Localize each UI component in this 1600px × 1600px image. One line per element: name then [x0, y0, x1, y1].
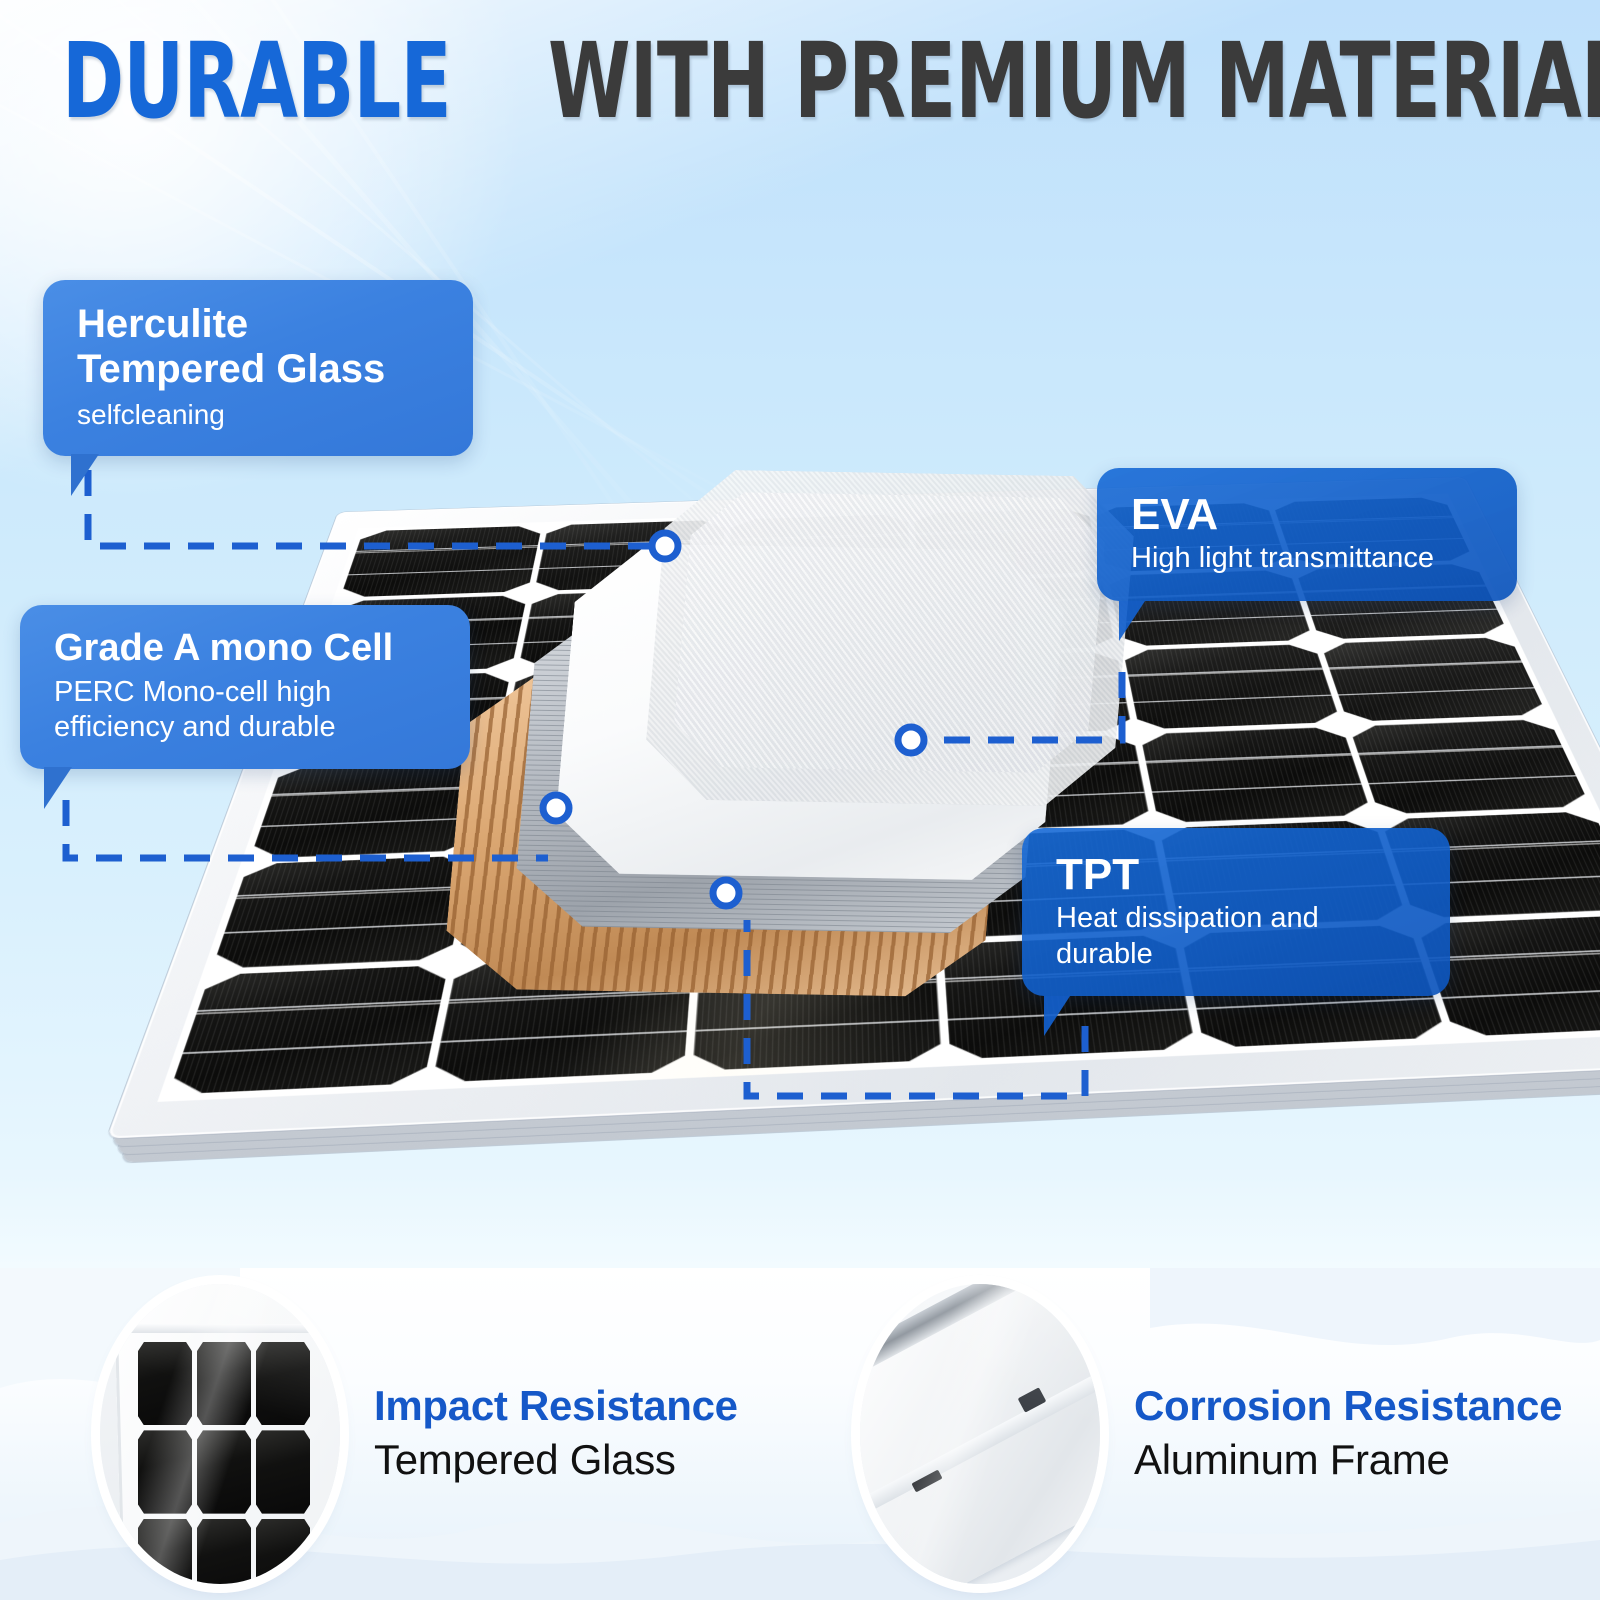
features-section: Impact Resistance Tempered Glass Corrosi… — [0, 1268, 1600, 1600]
cell-busbar — [1152, 784, 1362, 794]
callout-tpt[interactable]: TPT Heat dissipation and durable — [1022, 828, 1450, 996]
tempered-glass-layer — [641, 469, 1139, 807]
corrosion-resistance-subtitle: Aluminum Frame — [1134, 1435, 1562, 1485]
callout-eva-tail — [1119, 601, 1145, 641]
cell-busbar — [723, 629, 914, 637]
leader-line-herculite — [88, 470, 655, 546]
endpoint-dot-herculite — [652, 533, 678, 559]
cell-busbar — [183, 1041, 433, 1054]
feature-impact-resistance: Impact Resistance Tempered Glass — [0, 1268, 800, 1600]
cell-busbar — [261, 818, 480, 828]
solar-cell — [519, 589, 721, 668]
cell-busbar — [529, 610, 719, 618]
callout-eva[interactable]: EVA High light transmittance — [1097, 468, 1517, 601]
impact-resistance-text: Impact Resistance Tempered Glass — [374, 1383, 738, 1485]
cell-busbar — [706, 867, 929, 878]
solar-cell — [693, 944, 942, 1071]
leader-endpoint-dots — [543, 533, 924, 906]
corrosion-resistance-title: Corrosion Resistance — [1134, 1383, 1562, 1429]
corrosion-resistance-text: Corrosion Resistance Aluminum Frame — [1134, 1383, 1562, 1485]
cell-busbar — [539, 562, 722, 569]
cell-busbar — [237, 886, 466, 897]
cell-busbar — [930, 761, 1138, 770]
page-title: DURABLE WITH PREMIUM MATERIALS — [0, 26, 1600, 136]
callout-tpt-tail — [1044, 996, 1070, 1036]
solar-cell — [701, 837, 934, 948]
cell-busbar — [1311, 609, 1497, 617]
callout-tpt-subtitle: Heat dissipation and durable — [1056, 901, 1422, 972]
solar-cell — [918, 576, 1115, 654]
callout-grade-a-title: Grade A mono Cell — [54, 627, 442, 670]
cell-busbar — [524, 635, 717, 643]
cell-busbar — [1441, 987, 1600, 999]
cell-busbar — [494, 777, 706, 786]
cell-busbar — [926, 702, 1126, 711]
cell-busbar — [933, 792, 1145, 802]
cell-busbar — [1133, 695, 1331, 703]
callout-herculite-title: HerculiteTempered Glass — [77, 302, 445, 392]
solar-cell — [340, 526, 542, 598]
endpoint-dot-tpt — [713, 880, 739, 906]
impact-resistance-title: Impact Resistance — [374, 1383, 738, 1429]
solar-cell — [709, 742, 927, 840]
cell-busbar — [1128, 667, 1323, 675]
page-title-blue: DURABLE — [62, 29, 451, 133]
leader-line-eva — [916, 672, 1122, 740]
solar-cell — [250, 758, 493, 858]
feature-corrosion-resistance: Corrosion Resistance Aluminum Frame — [800, 1268, 1600, 1600]
cell-busbar — [449, 989, 690, 1001]
solar-cell — [481, 750, 709, 849]
aluminum-shine — [860, 1284, 1100, 1584]
cell-busbar — [272, 786, 487, 796]
endpoint-dot-eva — [898, 727, 924, 753]
corrosion-resistance-photo — [860, 1284, 1100, 1584]
solar-cell — [1140, 727, 1372, 823]
cell-busbar — [695, 1019, 939, 1032]
cell-busbar — [698, 979, 936, 991]
endpoint-dot-grade-a — [543, 795, 569, 821]
cell-busbar — [441, 1030, 688, 1043]
cell-busbar — [725, 604, 913, 611]
cell-busbar — [356, 545, 538, 552]
cell-busbar — [1117, 615, 1305, 623]
solar-cell — [727, 514, 911, 585]
cell-busbar — [544, 539, 724, 546]
solar-cell — [458, 846, 701, 958]
callout-tpt-title: TPT — [1056, 850, 1422, 899]
cell-busbar — [720, 682, 918, 690]
cell-busbar — [1358, 745, 1562, 754]
cell-busbar — [1329, 660, 1522, 668]
callout-eva-title: EVA — [1131, 490, 1489, 539]
eva-layer — [551, 543, 1069, 882]
impact-resistance-subtitle: Tempered Glass — [374, 1435, 738, 1485]
cell-busbar — [921, 622, 1111, 630]
tpt-backsheet-layer — [441, 668, 1008, 997]
cell-busbar — [224, 922, 458, 933]
page-title-dark: WITH PREMIUM MATERIALS — [548, 29, 1600, 133]
cell-busbar — [730, 533, 909, 540]
cell-busbar — [197, 1000, 441, 1012]
callout-grade-a-subtitle: PERC Mono-cell high efficiency and durab… — [54, 675, 442, 746]
cell-busbar — [1428, 948, 1600, 960]
cell-busbar — [925, 675, 1122, 683]
cell-busbar — [916, 550, 1096, 557]
leader-line-grade-a — [66, 800, 548, 858]
solar-cell — [501, 665, 715, 753]
cell-busbar — [348, 568, 533, 575]
impact-resistance-photo — [100, 1284, 340, 1584]
callout-grade-a-mono-cell[interactable]: Grade A mono Cell PERC Mono-cell high ef… — [20, 605, 470, 769]
solar-cell — [432, 955, 693, 1083]
cell-busbar — [1338, 687, 1535, 695]
cell-busbar — [729, 556, 911, 563]
solar-cell — [929, 735, 1151, 832]
solar-cell — [923, 651, 1132, 738]
cell-busbar — [713, 769, 923, 778]
solar-cell — [1321, 637, 1547, 722]
callout-herculite[interactable]: HerculiteTempered Glass selfcleaning — [43, 280, 473, 456]
solar-cell — [1349, 719, 1590, 814]
cell-busbar — [512, 689, 712, 697]
cell-busbar — [506, 717, 710, 726]
solar-cell — [169, 965, 449, 1095]
cell-busbar — [1368, 775, 1576, 784]
callout-grade-a-tail — [44, 767, 72, 809]
solar-cell — [913, 508, 1100, 578]
mono-cell-layer — [511, 606, 1048, 935]
cell-busbar — [1196, 997, 1434, 1009]
callout-herculite-subtitle: selfcleaning — [77, 398, 445, 432]
callout-herculite-tail — [71, 454, 99, 496]
cell-busbar — [915, 527, 1092, 534]
tempered-glass-layer-highlight — [670, 491, 1108, 773]
glass-shine — [100, 1284, 340, 1584]
cell-busbar — [1145, 753, 1351, 762]
cell-busbar — [473, 877, 699, 888]
cell-busbar — [704, 903, 932, 914]
callout-eva-subtitle: High light transmittance — [1131, 541, 1489, 576]
cell-busbar — [919, 597, 1105, 604]
solar-cell — [716, 658, 922, 745]
light-ray-3 — [36, 0, 1024, 955]
cell-busbar — [711, 800, 925, 810]
solar-cell — [212, 855, 472, 969]
cell-busbar — [718, 710, 920, 719]
hero-section: DURABLE WITH PREMIUM MATERIALS — [0, 0, 1600, 1268]
light-ray-5 — [117, 0, 959, 1016]
cell-busbar — [487, 809, 704, 819]
solar-cell — [534, 520, 725, 591]
solar-cell — [1123, 644, 1341, 730]
solar-cell — [722, 582, 917, 660]
cell-busbar — [465, 912, 696, 923]
